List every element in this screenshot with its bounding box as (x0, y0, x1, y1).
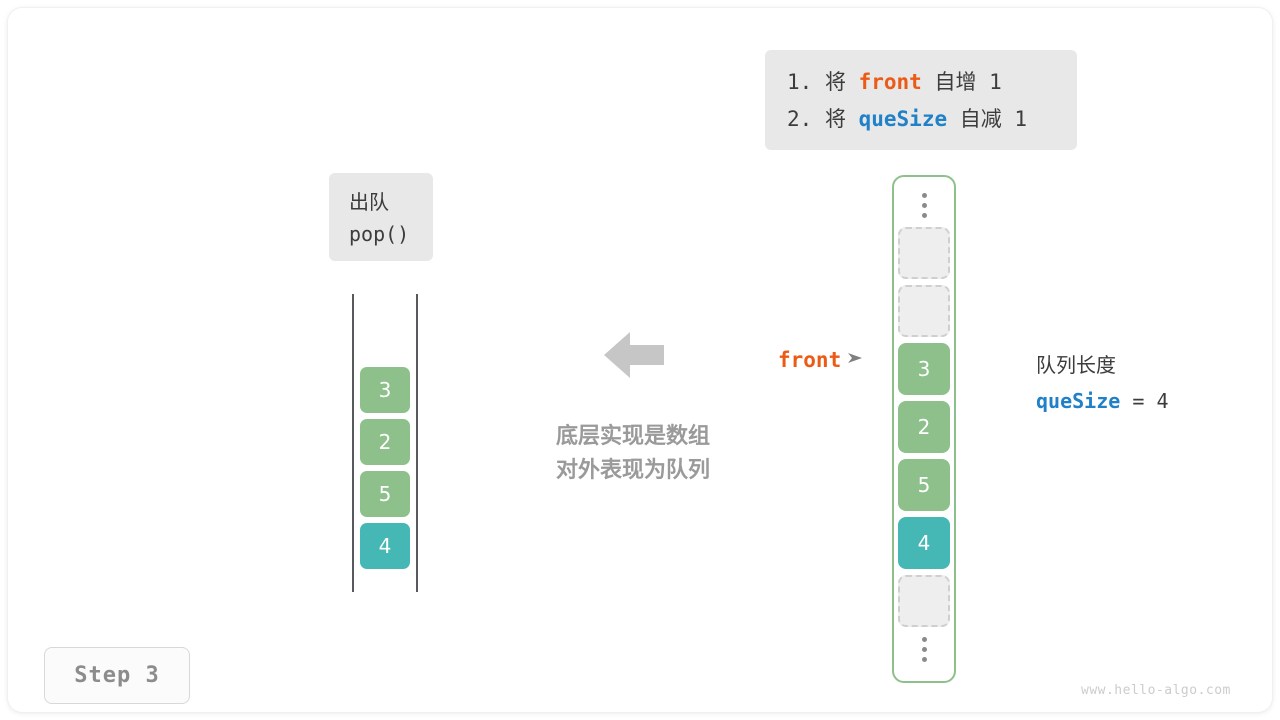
queue-view: 3254 (352, 294, 418, 592)
instruction-line-1: 1. 将 front 自增 1 (787, 64, 1055, 101)
instruction-1-index: 1. (787, 70, 812, 94)
caption-line-1: 底层实现是数组 (536, 420, 730, 454)
instruction-2-prefix: 将 (825, 107, 846, 131)
array-cell: 4 (898, 517, 950, 569)
instruction-1-code: front (859, 70, 922, 94)
front-pointer: front (778, 348, 864, 372)
queue-rail-left (352, 294, 354, 592)
diagram-frame: 1. 将 front 自增 1 2. 将 queSize 自减 1 出队 pop… (8, 8, 1272, 712)
instruction-2-index: 2. (787, 107, 812, 131)
array-empty-cell (898, 285, 950, 337)
array-cell: 3 (898, 343, 950, 395)
step-badge: Step 3 (44, 647, 190, 704)
watermark: www.hello-algo.com (1081, 683, 1231, 698)
queue-cell: 4 (360, 523, 410, 569)
flow-arrow-left-icon (604, 330, 664, 380)
array-empty-cell (898, 227, 950, 279)
center-caption: 底层实现是数组 对外表现为队列 (536, 420, 730, 488)
array-cell: 5 (898, 459, 950, 511)
array-empty-cell (898, 575, 950, 627)
queue-size-expression: queSize = 4 (1036, 384, 1168, 418)
queue-cell: 2 (360, 419, 410, 465)
arrow-right-icon (848, 351, 864, 370)
operation-box: 出队 pop() (329, 173, 433, 261)
step-badge-label: Step 3 (74, 663, 159, 688)
array-view: 3254 (892, 175, 956, 683)
queue-cell-list: 3254 (360, 367, 410, 569)
watermark-text: www.hello-algo.com (1081, 683, 1231, 698)
caption-line-2: 对外表现为队列 (536, 454, 730, 488)
instruction-line-2: 2. 将 queSize 自减 1 (787, 101, 1055, 138)
queue-cell: 5 (360, 471, 410, 517)
queue-size-equals: = (1132, 389, 1144, 413)
instruction-box: 1. 将 front 自增 1 2. 将 queSize 自减 1 (765, 50, 1077, 150)
instruction-2-code: queSize (859, 107, 948, 131)
operation-title: 出队 (349, 186, 433, 218)
array-top-ellipsis-icon (894, 183, 954, 227)
operation-method: pop() (349, 218, 433, 250)
queue-size-title: 队列长度 (1036, 350, 1168, 380)
instruction-1-suffix: 自增 1 (934, 70, 1001, 94)
array-cell: 2 (898, 401, 950, 453)
queue-cell: 3 (360, 367, 410, 413)
queue-size-info: 队列长度 queSize = 4 (1036, 350, 1168, 418)
queue-size-value: 4 (1156, 389, 1168, 413)
front-pointer-label: front (778, 348, 841, 372)
queue-size-var: queSize (1036, 389, 1120, 413)
instruction-1-prefix: 将 (825, 70, 846, 94)
instruction-2-suffix: 自减 1 (960, 107, 1027, 131)
array-bottom-ellipsis-icon (894, 627, 954, 671)
array-cell-list: 3254 (898, 227, 950, 627)
queue-rail-right (416, 294, 418, 592)
